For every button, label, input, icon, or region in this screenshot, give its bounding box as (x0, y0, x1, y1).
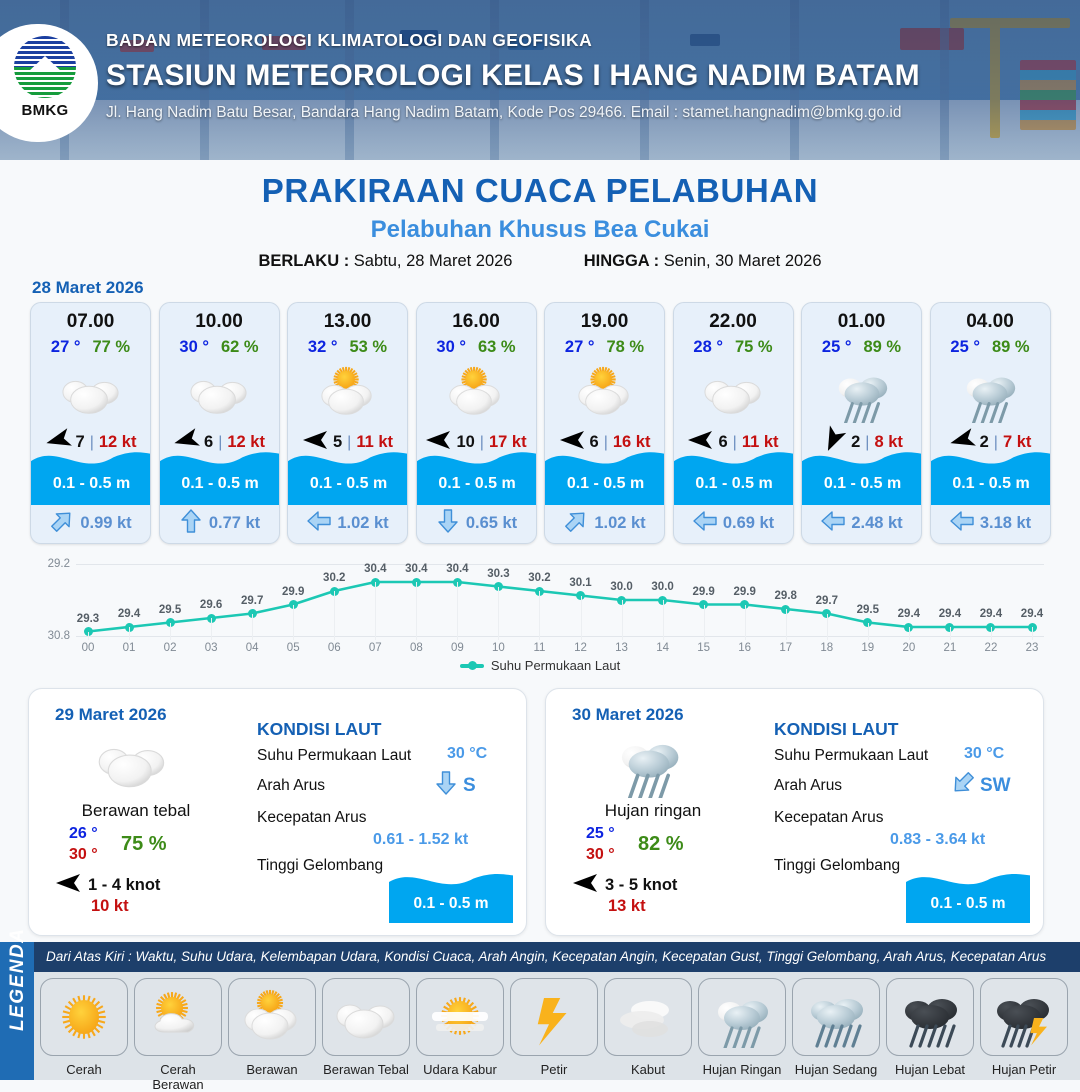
card-temp-humidity: 30 °62 % (160, 338, 279, 357)
legend-item-label: Cerah (40, 1062, 128, 1077)
page-header: BMKG BADAN METEOROLOGI KLIMATOLOGI DAN G… (0, 0, 1080, 160)
chart-point-label: 29.4 (898, 608, 920, 620)
card-temp-humidity: 25 °89 % (931, 338, 1050, 357)
chart-x-gridline (170, 623, 171, 641)
card-time: 22.00 (674, 311, 793, 333)
bmkg-logo-emblem (14, 36, 76, 98)
card-wave-block: 0.1 - 0.5 m (288, 449, 408, 505)
card-current-speed: 1.02 kt (337, 514, 388, 533)
valid-from-label: BERLAKU : (258, 252, 349, 270)
panel-wave-label: Tinggi Gelombang (774, 857, 900, 875)
wave-crest-shape (31, 449, 151, 471)
legend-item: Hujan Petir (980, 978, 1068, 1092)
legend-item-label: Cerah Berawan (134, 1062, 222, 1092)
legend-item: Cerah Berawan (134, 978, 222, 1092)
wave-crest-shape (389, 871, 513, 891)
card-humidity: 77 % (92, 338, 130, 357)
card-wave-height: 0.1 - 0.5 m (288, 475, 408, 493)
chart-x-tick: 06 (319, 642, 349, 654)
panel-wave-box: 0.1 - 0.5 m (906, 871, 1030, 923)
panel-sst-label: Suhu Permukaan Laut (257, 747, 411, 765)
chart-point-label: 29.9 (733, 586, 755, 598)
legend-item: Hujan Sedang (792, 978, 880, 1092)
card-wave-height: 0.1 - 0.5 m (31, 475, 151, 493)
chart-x-gridline (950, 627, 951, 640)
chart-x-gridline (622, 600, 623, 640)
chart-x-tick: 09 (442, 642, 472, 654)
chart-point-label: 29.4 (980, 608, 1002, 620)
panel-wind-speed: 1 - 4 knot (88, 876, 160, 895)
card-temperature: 30 ° (179, 338, 209, 357)
panel-date: 30 Maret 2026 (572, 705, 684, 725)
chart-x-gridline (252, 614, 253, 641)
card-humidity: 75 % (735, 338, 773, 357)
chart-x-tick: 21 (935, 642, 965, 654)
station-name: STASIUN METEOROLOGI KELAS I HANG NADIM B… (106, 59, 920, 93)
chart-x-gridline (991, 627, 992, 640)
berawan-tebal-icon (160, 360, 279, 426)
chart-point-label: 29.4 (939, 608, 961, 620)
berawan-icon (417, 360, 536, 426)
chart-point-label: 29.8 (775, 590, 797, 602)
card-wave-height: 0.1 - 0.5 m (931, 475, 1051, 493)
card-temperature: 25 ° (822, 338, 852, 357)
card-temperature: 32 ° (308, 338, 338, 357)
card-wave-height: 0.1 - 0.5 m (674, 475, 794, 493)
legend-item: Berawan Tebal (322, 978, 410, 1092)
card-humidity: 78 % (606, 338, 644, 357)
chart-point-label: 30.3 (487, 568, 509, 580)
chart-point-label: 30.0 (610, 581, 632, 593)
card-current-row: 1.02 kt (288, 509, 408, 538)
panel-sea-title: KONDISI LAUT (774, 719, 898, 740)
card-current-row: 0.99 kt (31, 509, 151, 538)
wind-direction-arrow-icon (572, 873, 598, 898)
card-time: 13.00 (288, 311, 407, 333)
chart-x-gridline (88, 632, 89, 641)
legend-note-strip: Dari Atas Kiri : Waktu, Suhu Udara, Kele… (34, 942, 1080, 972)
chart-x-gridline (293, 605, 294, 641)
card-time: 04.00 (931, 311, 1050, 333)
hujan-ringan-icon (594, 727, 704, 799)
chart-x-gridline (909, 627, 910, 640)
current-direction-arrow-icon (694, 509, 716, 538)
legend-item-label: Hujan Lebat (886, 1062, 974, 1077)
hujan-ringan-icon (802, 360, 921, 426)
legend-item-label: Hujan Sedang (792, 1062, 880, 1077)
panel-sea-title: KONDISI LAUT (257, 719, 381, 740)
card-temp-humidity: 25 °89 % (802, 338, 921, 357)
card-current-row: 3.18 kt (931, 509, 1051, 538)
card-current-speed: 0.99 kt (80, 514, 131, 533)
forecast-card: 10.0030 °62 %6|12 kt0.1 - 0.5 m0.77 kt (159, 302, 280, 544)
hujan-sedang-icon (792, 978, 880, 1056)
forecast-card: 16.0030 °63 %10|17 kt0.1 - 0.5 m0.65 kt (416, 302, 537, 544)
panel-condition: Hujan ringan (568, 801, 738, 821)
panel-wind-speed: 3 - 5 knot (605, 876, 677, 895)
wave-crest-shape (802, 449, 922, 471)
forecast-card: 01.0025 °89 %2|8 kt0.1 - 0.5 m2.48 kt (801, 302, 922, 544)
wave-crest-shape (931, 449, 1051, 471)
chart-x-gridline (745, 605, 746, 641)
card-current-row: 2.48 kt (802, 509, 922, 538)
chart-x-tick: 08 (401, 642, 431, 654)
chart-x-tick: 22 (976, 642, 1006, 654)
forecast-card: 13.0032 °53 %5|11 kt0.1 - 0.5 m1.02 kt (287, 302, 408, 544)
card-temp-humidity: 28 °75 % (674, 338, 793, 357)
card-humidity: 89 % (863, 338, 901, 357)
card-current-speed: 0.65 kt (466, 514, 517, 533)
legend-item: Berawan (228, 978, 316, 1092)
card-temperature: 27 ° (51, 338, 81, 357)
chart-x-tick: 00 (73, 642, 103, 654)
cerah-berawan-icon (134, 978, 222, 1056)
panel-current-dir-row: SW (952, 771, 1011, 800)
wind-direction-arrow-icon (55, 873, 81, 898)
forecast-date-label: 28 Maret 2026 (32, 278, 144, 298)
card-wave-block: 0.1 - 0.5 m (160, 449, 280, 505)
panel-temp-min: 26 ° (69, 825, 98, 843)
chart-x-tick: 12 (566, 642, 596, 654)
card-current-speed: 1.02 kt (594, 514, 645, 533)
chart-point-label: 30.0 (651, 581, 673, 593)
forecast-card: 04.0025 °89 %2|7 kt0.1 - 0.5 m3.18 kt (930, 302, 1051, 544)
berawan-tebal-icon (31, 360, 150, 426)
current-direction-arrow-icon (51, 509, 73, 538)
current-direction-arrow-icon (437, 509, 459, 538)
panel-wind-row: 1 - 4 knot (55, 873, 160, 898)
card-wave-height: 0.1 - 0.5 m (417, 475, 537, 493)
card-temp-humidity: 32 °53 % (288, 338, 407, 357)
card-wave-block: 0.1 - 0.5 m (417, 449, 537, 505)
panel-condition: Berawan tebal (51, 801, 221, 821)
chart-x-gridline (498, 587, 499, 641)
berawan-tebal-icon (674, 360, 793, 426)
legend-item-label: Kabut (604, 1062, 692, 1077)
berawan-icon (288, 360, 407, 426)
chart-x-tick: 15 (689, 642, 719, 654)
sst-chart-legend: Suhu Permukaan Laut (28, 658, 1052, 673)
chart-point-label: 29.7 (816, 595, 838, 607)
berawan-icon (545, 360, 664, 426)
chart-x-tick: 23 (1017, 642, 1047, 654)
card-wave-height: 0.1 - 0.5 m (160, 475, 280, 493)
card-time: 19.00 (545, 311, 664, 333)
chart-x-gridline (457, 582, 458, 640)
wave-crest-shape (906, 871, 1030, 891)
panel-gust: 10 kt (91, 897, 129, 916)
chart-y-tick: 29.2 (28, 558, 70, 570)
legend-item: Petir (510, 978, 598, 1092)
legend-note-text: Dari Atas Kiri : Waktu, Suhu Udara, Kele… (46, 949, 1046, 964)
daily-summary-panel: 30 Maret 2026Hujan ringan25 °30 °82 %3 -… (545, 688, 1044, 936)
card-wave-block: 0.1 - 0.5 m (802, 449, 922, 505)
panel-temp-range: 25 °30 ° (586, 825, 615, 864)
forecast-card: 22.0028 °75 %6|11 kt0.1 - 0.5 m0.69 kt (673, 302, 794, 544)
panel-humidity: 75 % (121, 833, 167, 856)
panel-sst-value: 30 °C (447, 745, 487, 763)
cerah-icon (40, 978, 128, 1056)
valid-from-value: Sabtu, 28 Maret 2026 (354, 252, 513, 270)
chart-x-tick: 05 (278, 642, 308, 654)
wave-crest-shape (417, 449, 537, 471)
panel-temp-max: 30 ° (69, 846, 98, 864)
forecast-card: 07.0027 °77 %7|12 kt0.1 - 0.5 m0.99 kt (30, 302, 151, 544)
chart-x-gridline (868, 623, 869, 641)
chart-point-label: 30.1 (569, 577, 591, 589)
chart-x-tick: 11 (524, 642, 554, 654)
current-direction-arrow-icon (951, 509, 973, 538)
card-temperature: 28 ° (693, 338, 723, 357)
hujan-ringan-icon (698, 978, 786, 1056)
chart-y-tick: 30.8 (28, 630, 70, 642)
chart-gridline (76, 636, 1044, 637)
chart-x-gridline (334, 591, 335, 640)
chart-point-label: 29.5 (857, 604, 879, 616)
chart-x-gridline (539, 591, 540, 640)
panel-date: 29 Maret 2026 (55, 705, 167, 725)
legend-item-label: Berawan Tebal (322, 1062, 410, 1077)
wave-crest-shape (288, 449, 408, 471)
panel-humidity: 82 % (638, 833, 684, 856)
legend-item: Cerah (40, 978, 128, 1092)
berawan-icon (228, 978, 316, 1056)
chart-x-tick: 19 (853, 642, 883, 654)
panel-current-dir-value: SW (980, 775, 1011, 797)
chart-x-tick: 07 (360, 642, 390, 654)
forecast-card: 19.0027 °78 %6|16 kt0.1 - 0.5 m1.02 kt (544, 302, 665, 544)
chart-x-tick: 18 (812, 642, 842, 654)
chart-point-label: 29.6 (200, 599, 222, 611)
card-current-row: 0.65 kt (417, 509, 537, 538)
card-time: 10.00 (160, 311, 279, 333)
header-text-block: BADAN METEOROLOGI KLIMATOLOGI DAN GEOFIS… (106, 30, 920, 122)
kabut-icon (604, 978, 692, 1056)
panel-temp-range: 26 °30 ° (69, 825, 98, 864)
card-time: 16.00 (417, 311, 536, 333)
chart-point-label: 30.2 (528, 572, 550, 584)
card-current-speed: 3.18 kt (980, 514, 1031, 533)
valid-until-label: HINGGA : (584, 252, 659, 270)
wave-crest-shape (545, 449, 665, 471)
chart-point-label: 29.9 (692, 586, 714, 598)
agency-name: BADAN METEOROLOGI KLIMATOLOGI DAN GEOFIS… (106, 30, 920, 51)
chart-x-tick: 01 (114, 642, 144, 654)
chart-x-tick: 13 (607, 642, 637, 654)
legend-item-label: Berawan (228, 1062, 316, 1077)
hujan-petir-icon (980, 978, 1068, 1056)
hujan-lebat-icon (886, 978, 974, 1056)
validity-row: BERLAKU : Sabtu, 28 Maret 2026 HINGGA : … (0, 252, 1080, 271)
valid-until-value: Senin, 30 Maret 2026 (664, 252, 822, 270)
chart-x-gridline (827, 614, 828, 641)
legend-section: LEGENDA Dari Atas Kiri : Waktu, Suhu Uda… (0, 942, 1080, 1080)
legend-side-band: LEGENDA (0, 942, 34, 1080)
card-temp-humidity: 30 °63 % (417, 338, 536, 357)
panel-wave-value: 0.1 - 0.5 m (389, 895, 513, 913)
legend-item-label: Hujan Petir (980, 1062, 1068, 1077)
legend-item: Kabut (604, 978, 692, 1092)
chart-x-tick: 17 (771, 642, 801, 654)
chart-point-label: 30.4 (405, 563, 427, 575)
chart-point-label: 29.4 (118, 608, 140, 620)
panel-gust: 13 kt (608, 897, 646, 916)
panel-current-dir-label: Arah Arus (257, 777, 325, 795)
chart-point-label: 29.9 (282, 586, 304, 598)
card-temperature: 30 ° (436, 338, 466, 357)
panel-sst-value: 30 °C (964, 745, 1004, 763)
hujan-ringan-icon (931, 360, 1050, 426)
current-direction-arrow-icon (952, 771, 974, 800)
chart-x-gridline (1032, 627, 1033, 640)
panel-current-speed-label: Kecepatan Arus (257, 809, 366, 827)
sst-chart-plot: 29.329.429.529.629.729.930.230.430.430.4… (76, 564, 1044, 636)
card-current-speed: 0.77 kt (209, 514, 260, 533)
card-temperature: 25 ° (950, 338, 980, 357)
chart-x-tick: 16 (730, 642, 760, 654)
chart-x-gridline (416, 582, 417, 640)
panel-wave-label: Tinggi Gelombang (257, 857, 383, 875)
forecast-card-row: 07.0027 °77 %7|12 kt0.1 - 0.5 m0.99 kt10… (30, 302, 1051, 544)
current-direction-arrow-icon (308, 509, 330, 538)
chart-x-gridline (704, 605, 705, 641)
card-wave-block: 0.1 - 0.5 m (31, 449, 151, 505)
card-current-row: 1.02 kt (545, 509, 665, 538)
chart-point-label: 29.7 (241, 595, 263, 607)
card-temp-humidity: 27 °77 % (31, 338, 150, 357)
page-subtitle: Pelabuhan Khusus Bea Cukai (0, 216, 1080, 244)
legend-series-label: Suhu Permukaan Laut (491, 658, 620, 673)
legend-item-row: CerahCerah BerawanBerawanBerawan TebalUd… (40, 978, 1068, 1092)
chart-point-label: 29.5 (159, 604, 181, 616)
chart-x-gridline (129, 627, 130, 640)
udara-kabur-icon (416, 978, 504, 1056)
legend-side-label: LEGENDA (7, 935, 29, 1031)
panel-temp-max: 30 ° (586, 846, 615, 864)
panel-wave-box: 0.1 - 0.5 m (389, 871, 513, 923)
chart-x-tick: 14 (648, 642, 678, 654)
berawan-tebal-icon (77, 727, 187, 799)
card-time: 07.00 (31, 311, 150, 333)
legend-line-marker (460, 664, 484, 668)
legend-item-label: Hujan Ringan (698, 1062, 786, 1077)
legend-item-label: Udara Kabur (416, 1062, 504, 1077)
panel-current-dir-value: S (463, 775, 476, 797)
berawan-tebal-icon (322, 978, 410, 1056)
chart-point-label: 29.4 (1021, 608, 1043, 620)
daily-summary-panel: 29 Maret 2026Berawan tebal26 °30 °75 %1 … (28, 688, 527, 936)
chart-x-gridline (375, 582, 376, 640)
chart-x-tick: 10 (483, 642, 513, 654)
chart-point-label: 29.3 (77, 613, 99, 625)
legend-item: Hujan Lebat (886, 978, 974, 1092)
chart-x-tick: 04 (237, 642, 267, 654)
panel-temp-min: 25 ° (586, 825, 615, 843)
card-current-speed: 2.48 kt (851, 514, 902, 533)
panel-sst-label: Suhu Permukaan Laut (774, 747, 928, 765)
chart-x-tick: 03 (196, 642, 226, 654)
wave-crest-shape (160, 449, 280, 471)
current-direction-arrow-icon (565, 509, 587, 538)
card-wave-height: 0.1 - 0.5 m (545, 475, 665, 493)
petir-icon (510, 978, 598, 1056)
card-current-speed: 0.69 kt (723, 514, 774, 533)
panel-current-speed-value: 0.83 - 3.64 kt (890, 831, 985, 849)
panel-wave-value: 0.1 - 0.5 m (906, 895, 1030, 913)
card-temp-humidity: 27 °78 % (545, 338, 664, 357)
legend-item-label: Petir (510, 1062, 598, 1077)
current-direction-arrow-icon (180, 509, 202, 538)
chart-point-label: 30.2 (323, 572, 345, 584)
card-temperature: 27 ° (565, 338, 595, 357)
station-address: Jl. Hang Nadim Batu Besar, Bandara Hang … (106, 104, 920, 122)
legend-item: Hujan Ringan (698, 978, 786, 1092)
card-humidity: 62 % (221, 338, 259, 357)
chart-x-tick: 02 (155, 642, 185, 654)
card-wave-block: 0.1 - 0.5 m (931, 449, 1051, 505)
card-current-row: 0.69 kt (674, 509, 794, 538)
bmkg-logo-text: BMKG (14, 102, 76, 119)
wave-crest-shape (674, 449, 794, 471)
sst-chart: 29.329.429.529.629.729.930.230.430.430.4… (28, 556, 1052, 686)
chart-x-gridline (786, 609, 787, 640)
chart-point-label: 30.4 (364, 563, 386, 575)
card-humidity: 89 % (992, 338, 1030, 357)
panel-current-speed-label: Kecepatan Arus (774, 809, 883, 827)
card-humidity: 63 % (478, 338, 516, 357)
panel-current-dir-row: S (435, 771, 476, 800)
current-direction-arrow-icon (822, 509, 844, 538)
card-time: 01.00 (802, 311, 921, 333)
chart-x-gridline (581, 596, 582, 641)
panel-current-speed-value: 0.61 - 1.52 kt (373, 831, 468, 849)
chart-x-gridline (663, 600, 664, 640)
page-title: PRAKIRAAN CUACA PELABUHAN (0, 172, 1080, 210)
daily-panel-row: 29 Maret 2026Berawan tebal26 °30 °75 %1 … (28, 688, 1044, 936)
legend-item: Udara Kabur (416, 978, 504, 1092)
card-wave-block: 0.1 - 0.5 m (674, 449, 794, 505)
card-current-row: 0.77 kt (160, 509, 280, 538)
panel-wind-row: 3 - 5 knot (572, 873, 677, 898)
chart-x-gridline (211, 618, 212, 640)
chart-x-tick: 20 (894, 642, 924, 654)
chart-point-label: 30.4 (446, 563, 468, 575)
card-humidity: 53 % (349, 338, 387, 357)
card-wave-height: 0.1 - 0.5 m (802, 475, 922, 493)
card-wave-block: 0.1 - 0.5 m (545, 449, 665, 505)
panel-current-dir-label: Arah Arus (774, 777, 842, 795)
current-direction-arrow-icon (435, 771, 457, 800)
